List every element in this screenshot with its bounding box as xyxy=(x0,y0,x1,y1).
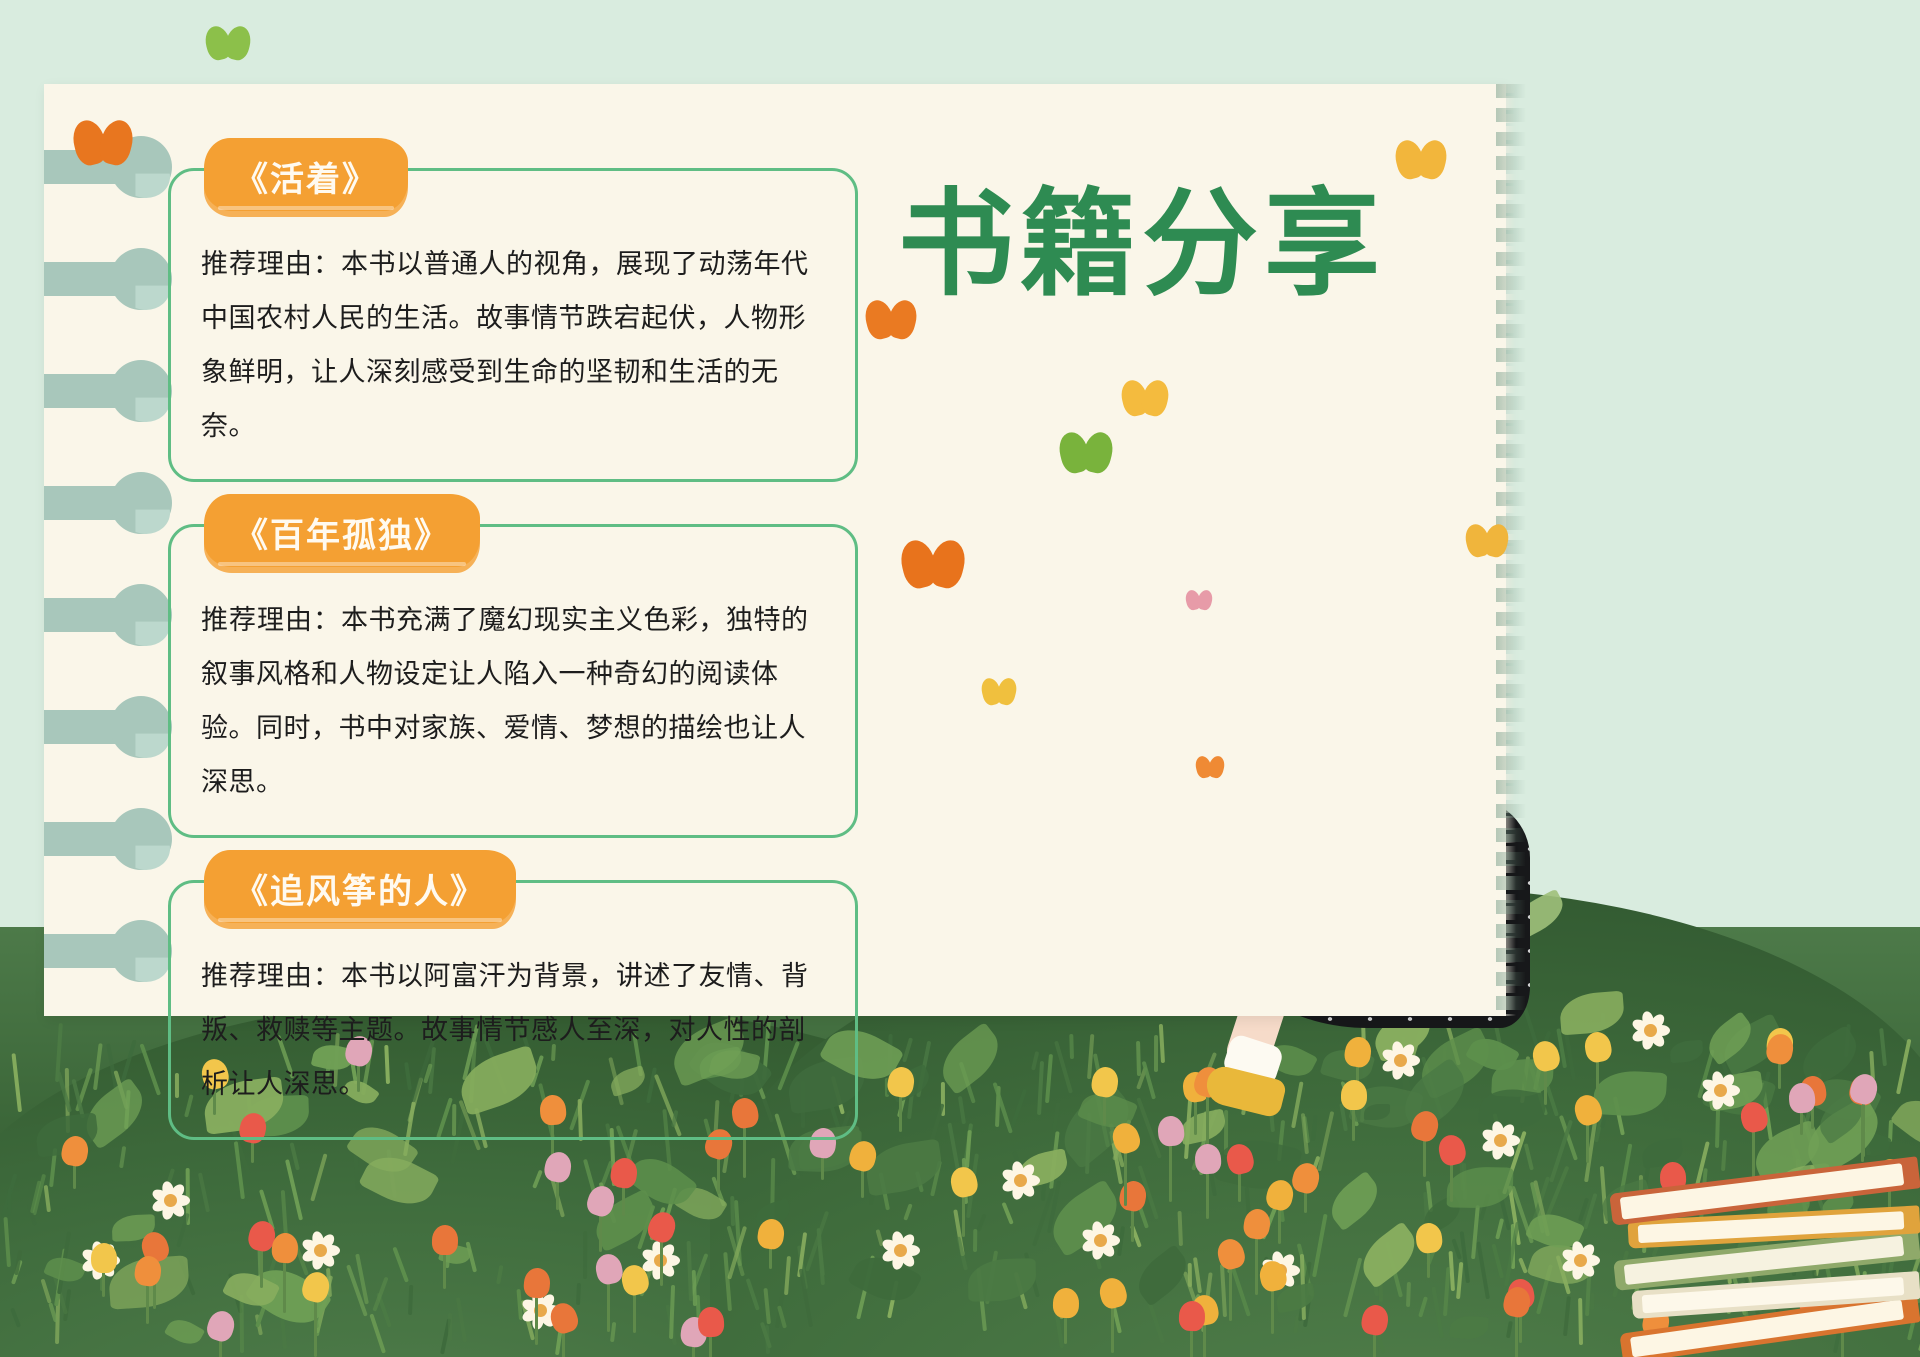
grass-blade xyxy=(583,1231,587,1279)
grass-blade xyxy=(1578,1298,1583,1345)
page-title: 书籍分享 xyxy=(898,186,1386,302)
flower-stem xyxy=(1515,1311,1518,1357)
grass-blade xyxy=(1069,1033,1074,1059)
book-title-tag[interactable]: 《百年孤独》 xyxy=(204,494,480,573)
butterfly-yellow-top-icon xyxy=(1396,140,1446,179)
butterfly-yellow-low-icon xyxy=(982,678,1016,705)
flower-stem xyxy=(1206,1091,1209,1145)
punch-notch xyxy=(44,710,120,744)
flower-stem xyxy=(1124,1147,1127,1206)
grass-blade xyxy=(448,1313,452,1341)
small-flower xyxy=(91,1243,117,1273)
grass-blade xyxy=(730,1196,735,1226)
book-reason: 推荐理由：本书充满了魔幻现实主义色彩，独特的叙事风格和人物设定让人陷入一种奇幻的… xyxy=(201,593,825,809)
flower-stem xyxy=(443,1249,446,1289)
punch-notch xyxy=(44,934,120,968)
daisy-flower xyxy=(1480,1120,1520,1160)
butterfly-pink-small-icon xyxy=(1186,590,1212,610)
poster-canvas: 书籍分享 《活着》 推荐理由：本书以普通人的视角，展现了动荡年代中国农村人民的生… xyxy=(0,0,1920,1357)
small-flower xyxy=(270,1232,299,1264)
book-title-tag[interactable]: 《追风筝的人》 xyxy=(204,850,516,929)
punch-notch xyxy=(44,374,120,408)
grass-blade xyxy=(973,1229,977,1252)
flower-stem xyxy=(1206,1168,1209,1219)
punch-hole xyxy=(110,696,172,758)
flower-stem xyxy=(314,1296,317,1357)
butterfly-yellow-right-icon xyxy=(1466,524,1508,557)
book-card: 《百年孤独》 推荐理由：本书充满了魔幻现实主义色彩，独特的叙事风格和人物设定让人… xyxy=(168,524,858,838)
punch-hole xyxy=(110,472,172,534)
small-flower xyxy=(1052,1288,1079,1319)
punch-notch xyxy=(44,262,120,296)
reason-label: 推荐理由： xyxy=(201,605,341,635)
small-flower xyxy=(1178,1300,1205,1331)
butterfly-orange-low-icon xyxy=(1196,756,1224,778)
flower-stem xyxy=(1229,1263,1232,1321)
book-card: 《追风筝的人》 推荐理由：本书以阿富汗为背景，讲述了友情、背叛、救赎等主题。故事… xyxy=(168,880,858,1140)
daisy-flower xyxy=(1080,1220,1120,1260)
flower-stem xyxy=(283,1257,286,1313)
flower-stem xyxy=(535,1292,538,1345)
flower-stem xyxy=(607,1278,610,1332)
punch-hole xyxy=(110,248,172,310)
grass-blade xyxy=(576,1283,581,1306)
grass-blade xyxy=(1154,1035,1158,1072)
reason-label: 推荐理由： xyxy=(201,249,341,279)
book-reason: 推荐理由：本书以普通人的视角，展现了动荡年代中国农村人民的生活。故事情节跌宕起伏… xyxy=(201,237,825,453)
flower-stem xyxy=(1255,1233,1258,1295)
book-reason: 推荐理由：本书以阿富汗为背景，讲述了友情、背叛、救赎等主题。故事情节感人至深，对… xyxy=(201,949,825,1111)
stacked-books xyxy=(1590,1027,1920,1357)
daisy-flower xyxy=(880,1230,920,1270)
small-flower xyxy=(432,1225,459,1256)
butterfly-top-green-icon xyxy=(206,26,250,60)
punch-hole xyxy=(110,920,172,982)
punch-hole xyxy=(110,584,172,646)
daisy-flower xyxy=(150,1180,190,1220)
punch-notch xyxy=(44,486,120,520)
flower-stem xyxy=(1271,1285,1274,1334)
butterfly-green-mid-icon xyxy=(1060,432,1112,473)
grass-blade xyxy=(239,1295,243,1353)
flower-stem xyxy=(1111,1302,1114,1353)
daisy-flower xyxy=(1380,1040,1420,1080)
small-flower xyxy=(1341,1080,1367,1110)
butterfly-left-orange-icon xyxy=(74,120,132,165)
daisy-flower xyxy=(1000,1160,1040,1200)
punch-notch xyxy=(44,822,120,856)
small-flower xyxy=(697,1307,724,1338)
punch-hole xyxy=(110,808,172,870)
butterfly-mid-orange-icon xyxy=(866,300,916,339)
book-card: 《活着》 推荐理由：本书以普通人的视角，展现了动荡年代中国农村人民的生活。故事情… xyxy=(168,168,858,482)
butterfly-yellow-mid-icon xyxy=(1122,380,1168,416)
reason-label: 推荐理由： xyxy=(201,961,341,991)
book-title-tag[interactable]: 《活着》 xyxy=(204,138,408,217)
punch-hole xyxy=(110,360,172,422)
butterfly-orange-big-icon xyxy=(902,540,964,588)
punch-notch xyxy=(44,598,120,632)
grass-blade xyxy=(1188,1263,1192,1287)
daisy-flower xyxy=(300,1230,340,1270)
flower-stem xyxy=(660,1236,663,1286)
flower-stem xyxy=(146,1280,149,1323)
flower-stem xyxy=(1169,1140,1172,1202)
book-card-list: 《活着》 推荐理由：本书以普通人的视角，展现了动荡年代中国农村人民的生活。故事情… xyxy=(168,168,858,1182)
